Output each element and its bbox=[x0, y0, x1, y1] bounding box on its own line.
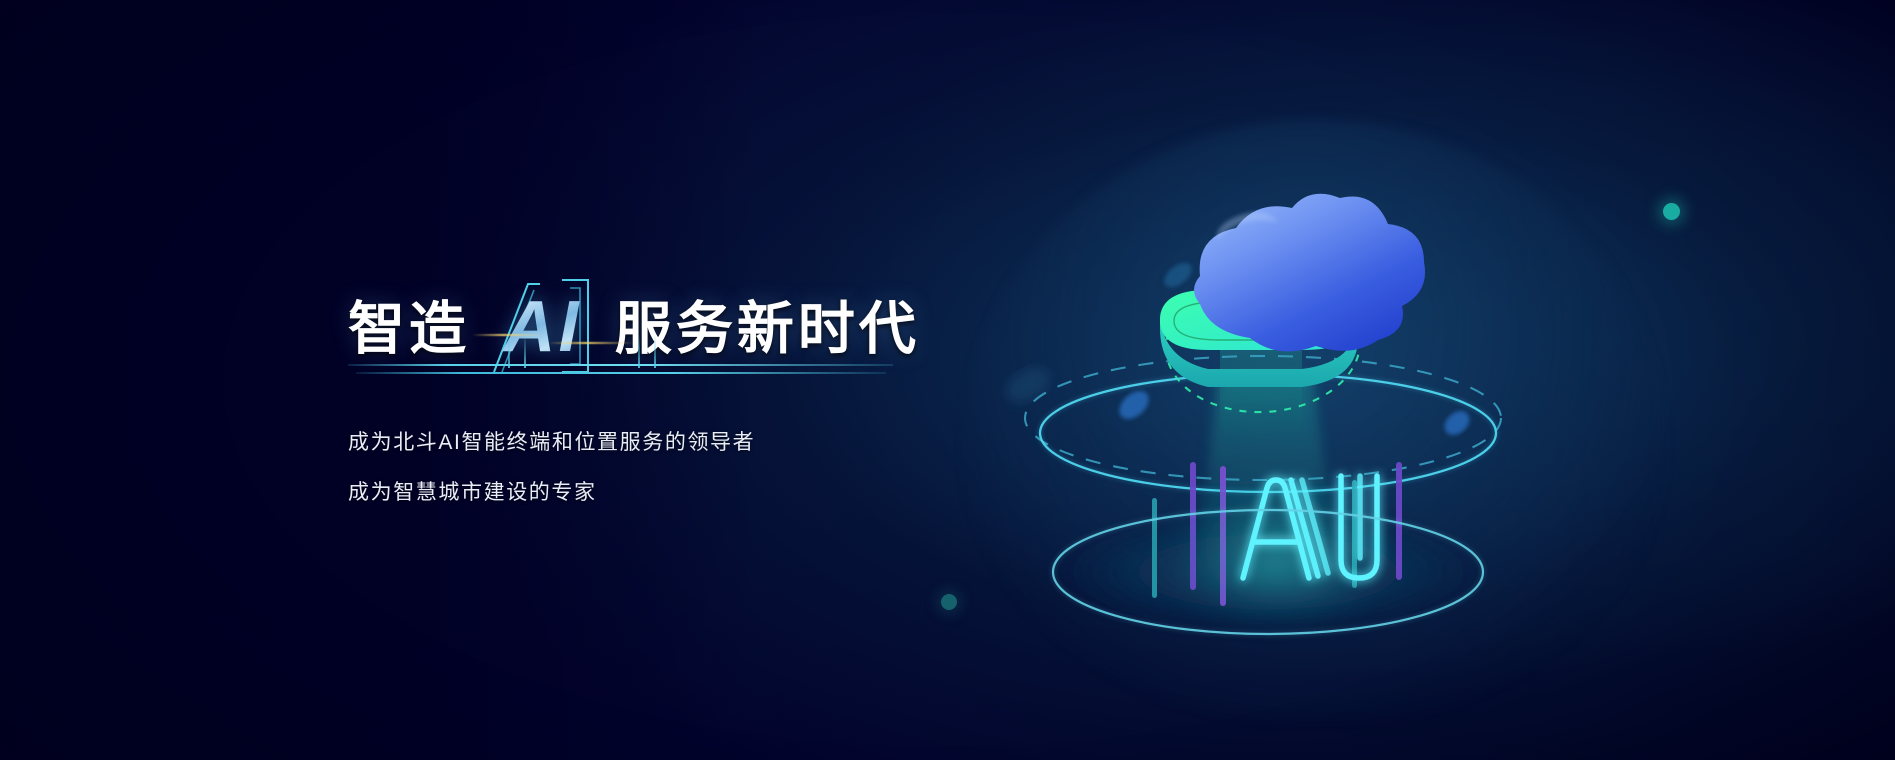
flake-upper-left bbox=[1160, 258, 1196, 292]
hero-banner: 智造 AI 服务新时代 bbox=[0, 0, 1895, 760]
flake-center-left bbox=[1114, 385, 1154, 424]
flake-right bbox=[1440, 406, 1474, 440]
subtitle-line-2: 成为智慧城市建设的专家 bbox=[348, 468, 755, 518]
headline-underline-primary bbox=[348, 364, 893, 366]
ai-cloud-platform-illustration bbox=[1010, 180, 1630, 650]
headline-prefix: 智造 bbox=[348, 290, 470, 368]
page-title: 智造 AI 服务新时代 bbox=[348, 290, 988, 368]
subtitle-line-1: 成为北斗AI智能终端和位置服务的领导者 bbox=[348, 418, 755, 468]
headline-underline bbox=[348, 364, 893, 382]
bar-teal-left bbox=[1152, 498, 1157, 598]
headline-suffix: 服务新时代 bbox=[615, 290, 920, 368]
headline-ai-lockup: AI bbox=[478, 290, 606, 368]
cloud-shape bbox=[1194, 194, 1425, 352]
headline-ai-text: AI bbox=[478, 280, 606, 374]
hero-copy: 智造 AI 服务新时代 bbox=[348, 290, 988, 368]
headline-underline-secondary bbox=[356, 372, 886, 374]
hero-subtitle: 成为北斗AI智能终端和位置服务的领导者 成为智慧城市建设的专家 bbox=[348, 418, 755, 518]
cylinder-body bbox=[1220, 348, 1302, 438]
